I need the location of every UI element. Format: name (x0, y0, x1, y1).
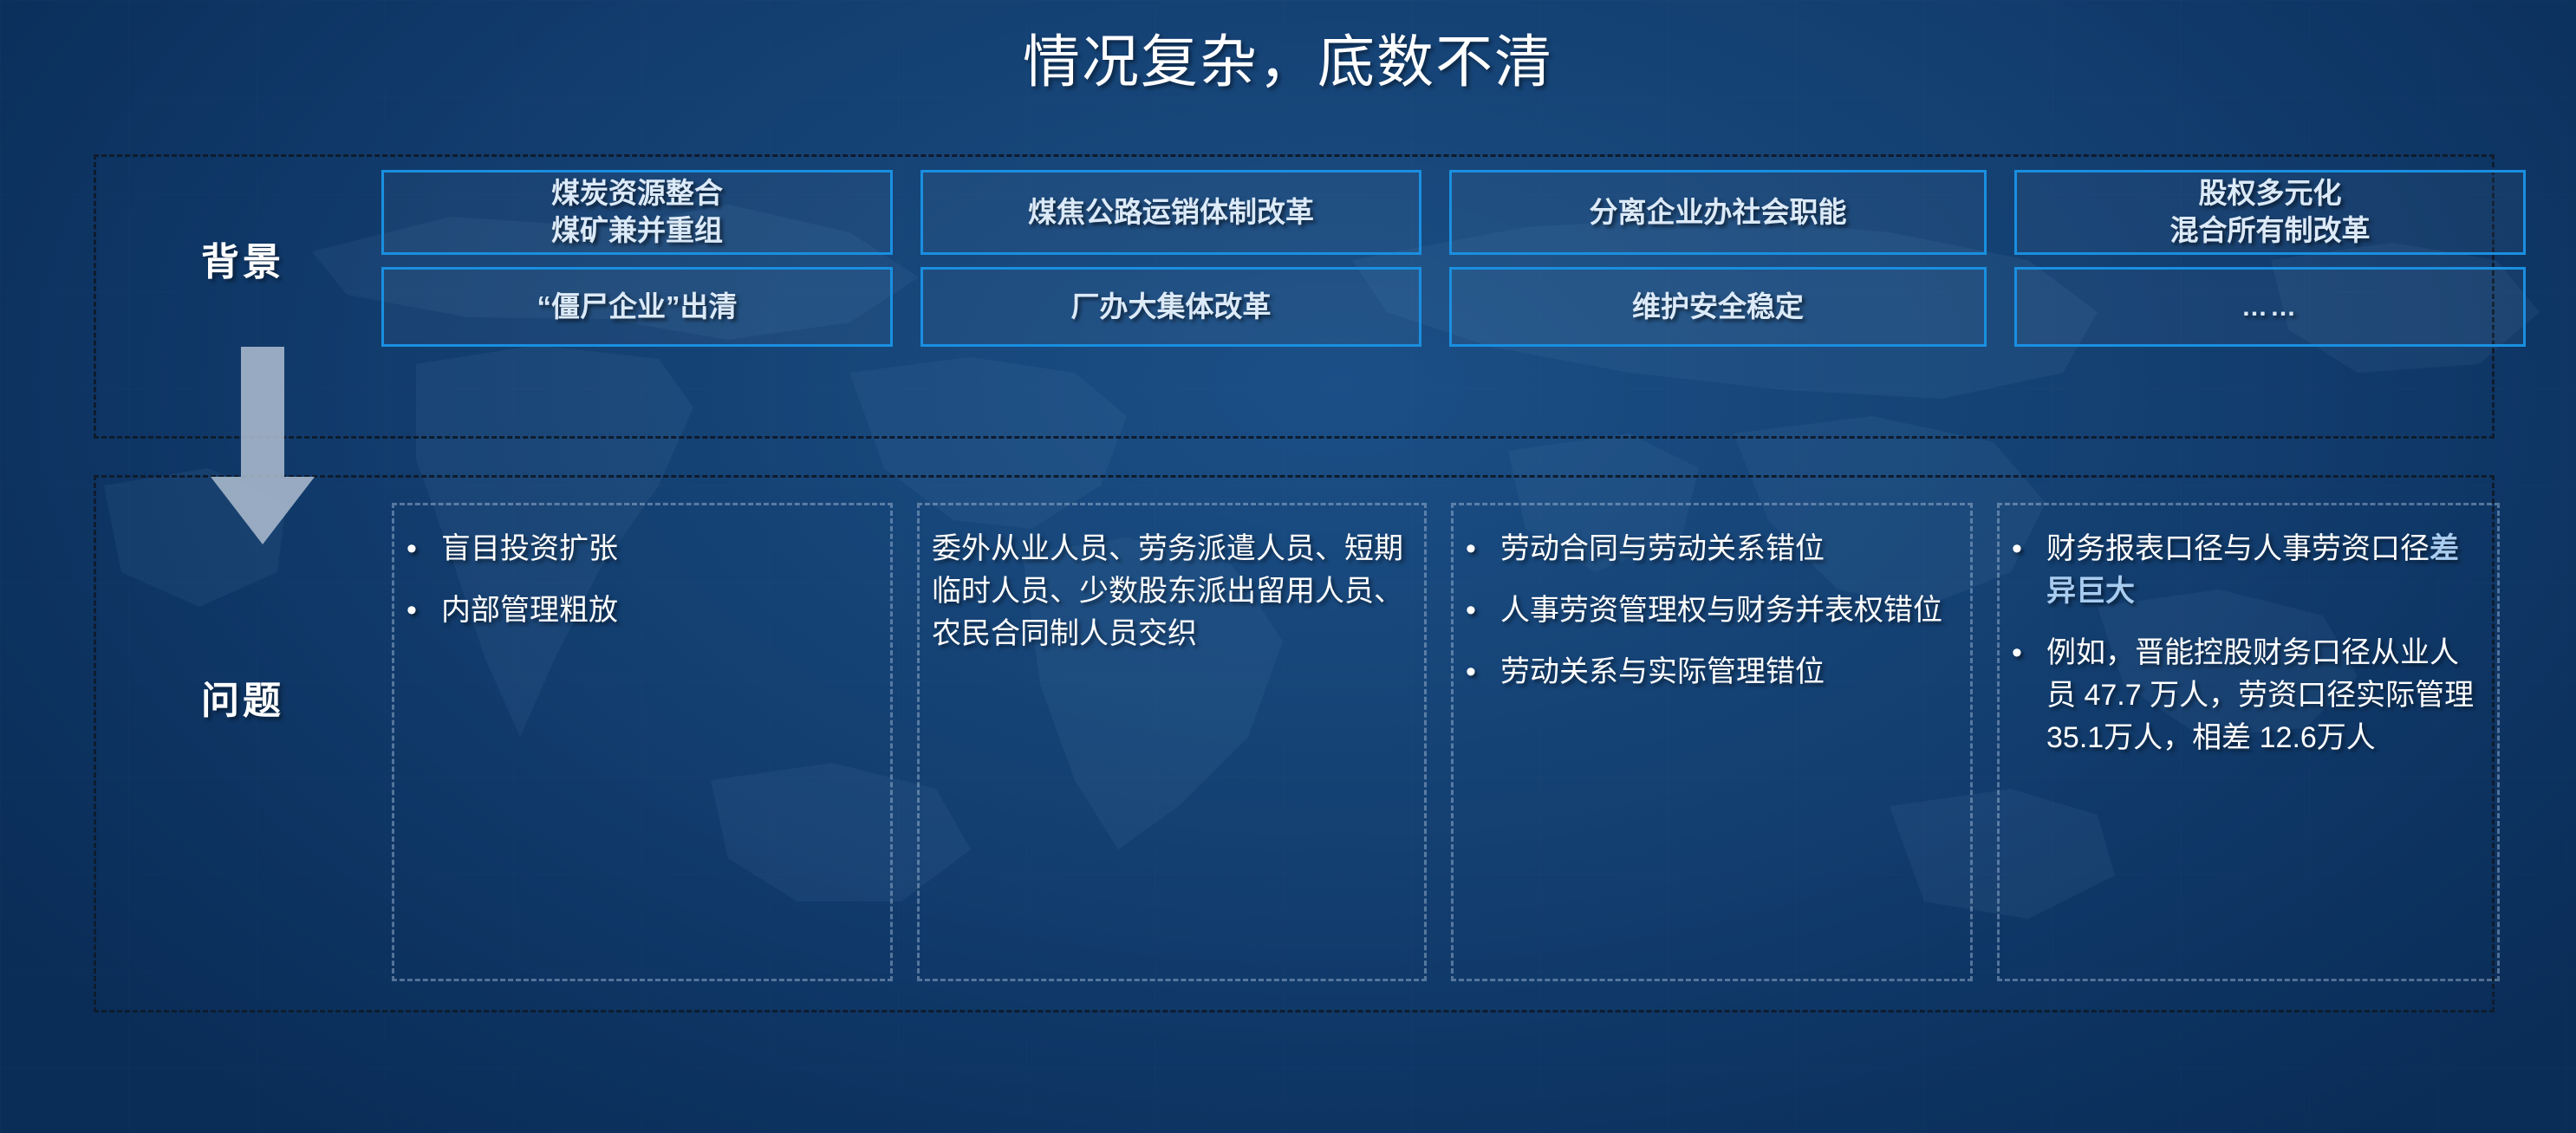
slide-root: 情况复杂，底数不清 背景 问题 煤炭资源整合 煤矿兼并重组 煤焦公路运销体制改革… (0, 0, 2576, 1133)
background-box-4-line-2: 混合所有制改革 (2170, 212, 2371, 250)
background-box-2-line-1: 煤焦公路运销体制改革 (1028, 194, 1314, 231)
problem-column-2: 委外从业人员、劳务派遣人员、短期临时人员、少数股东派出留用人员、农民合同制人员交… (917, 503, 1427, 981)
bullet-icon: • (2012, 632, 2046, 674)
background-box-1-line-1: 煤炭资源整合 (551, 175, 723, 212)
bullet-icon: • (1466, 528, 1500, 570)
background-box-1[interactable]: 煤炭资源整合 煤矿兼并重组 (381, 170, 893, 255)
bullet-icon: • (1466, 589, 1500, 632)
section-label-problem: 问题 (201, 669, 284, 725)
background-box-7[interactable]: 维护安全稳定 (1449, 267, 1987, 347)
bullet-icon: • (407, 589, 441, 632)
list-item: 委外从业人员、劳务派遣人员、短期临时人员、少数股东派出留用人员、农民合同制人员交… (932, 528, 1408, 655)
bullet-icon: • (2012, 528, 2046, 570)
background-box-5-line-1: “僵尸企业”出清 (537, 289, 738, 326)
problem-column-1: • 盲目投资扩张 • 内部管理粗放 (392, 503, 893, 981)
down-arrow-icon (206, 347, 319, 546)
bullet-icon: • (1466, 651, 1500, 693)
problem-column-grid: • 盲目投资扩张 • 内部管理粗放 委外从业人员、劳务派遣人员、短期临时人员、少… (392, 503, 2472, 981)
background-box-4-line-1: 股权多元化 (2199, 175, 2342, 212)
problem-column-4: • 财务报表口径与人事劳资口径差异巨大 • 例如，晋能控股财务口径从业人员 47… (1997, 503, 2500, 981)
list-item: • 盲目投资扩张 (407, 528, 875, 570)
list-item: • 财务报表口径与人事劳资口径差异巨大 (2012, 528, 2482, 613)
bullet-icon: • (407, 528, 441, 570)
background-box-5[interactable]: “僵尸企业”出清 (381, 267, 893, 347)
list-item-text: 劳动关系与实际管理错位 (1500, 651, 1955, 693)
list-item: • 例如，晋能控股财务口径从业人员 47.7 万人，劳资口径实际管理 35.1万… (2012, 632, 2482, 759)
background-box-6[interactable]: 厂办大集体改革 (920, 267, 1421, 347)
list-item-text: 财务报表口径与人事劳资口径差异巨大 (2046, 528, 2482, 613)
list-item-text-before: 财务报表口径与人事劳资口径 (2046, 532, 2430, 565)
background-box-4[interactable]: 股权多元化 混合所有制改革 (2014, 170, 2526, 255)
list-item-text: 委外从业人员、劳务派遣人员、短期临时人员、少数股东派出留用人员、农民合同制人员交… (932, 528, 1408, 655)
list-item: • 劳动合同与劳动关系错位 (1466, 528, 1955, 570)
list-item: • 内部管理粗放 (407, 589, 875, 632)
page-title: 情况复杂，底数不清 (0, 16, 2576, 99)
background-box-3[interactable]: 分离企业办社会职能 (1449, 170, 1987, 255)
problem-column-3: • 劳动合同与劳动关系错位 • 人事劳资管理权与财务并表权错位 • 劳动关系与实… (1451, 503, 1973, 981)
background-box-6-line-1: 厂办大集体改革 (1071, 289, 1272, 326)
list-item: • 人事劳资管理权与财务并表权错位 (1466, 589, 1955, 632)
background-box-grid: 煤炭资源整合 煤矿兼并重组 煤焦公路运销体制改革 分离企业办社会职能 股权多元化… (381, 170, 2470, 347)
list-item: • 劳动关系与实际管理错位 (1466, 651, 1955, 693)
background-box-1-line-2: 煤矿兼并重组 (551, 212, 723, 250)
section-label-background: 背景 (201, 231, 284, 286)
background-box-3-line-1: 分离企业办社会职能 (1590, 194, 1847, 231)
list-item-text: 例如，晋能控股财务口径从业人员 47.7 万人，劳资口径实际管理 35.1万人，… (2046, 632, 2482, 759)
list-item-text: 盲目投资扩张 (441, 528, 875, 570)
background-box-7-line-1: 维护安全稳定 (1632, 289, 1804, 326)
list-item-text: 内部管理粗放 (441, 589, 875, 632)
background-box-8-line-1: …… (2241, 290, 2299, 324)
background-box-8[interactable]: …… (2014, 267, 2526, 347)
background-box-2[interactable]: 煤焦公路运销体制改革 (920, 170, 1421, 255)
list-item-text: 人事劳资管理权与财务并表权错位 (1500, 589, 1955, 632)
list-item-text: 劳动合同与劳动关系错位 (1500, 528, 1955, 570)
